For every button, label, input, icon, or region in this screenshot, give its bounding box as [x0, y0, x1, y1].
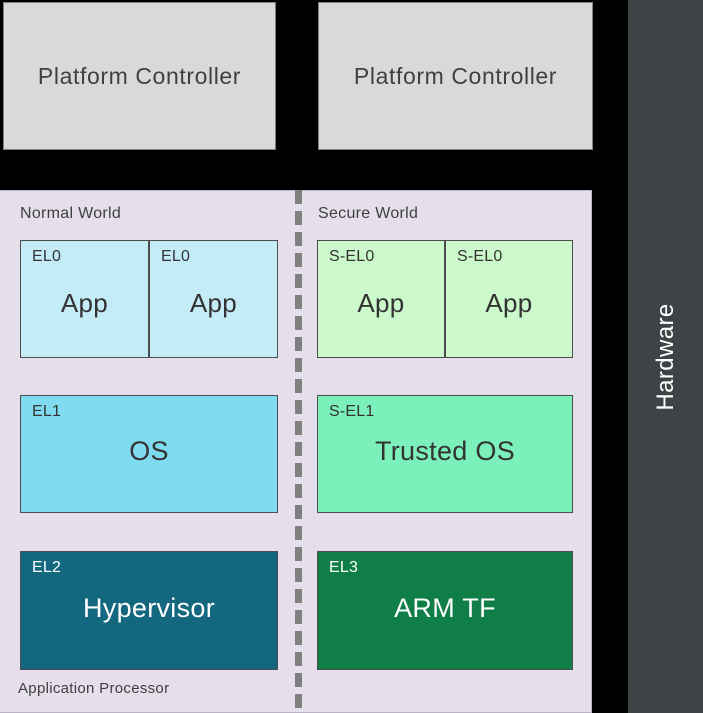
box-s-el0-app-secure-2: S-EL0 App [445, 240, 573, 358]
exception-level-tag: EL0 [161, 248, 190, 266]
platform-controller-label: Platform Controller [354, 63, 557, 90]
box-title: App [446, 288, 572, 319]
platform-controller-label: Platform Controller [38, 63, 241, 90]
world-divider-dashed-line [295, 190, 302, 713]
architecture-diagram: Platform Controller Platform Controller … [0, 0, 703, 713]
box-title: App [318, 288, 444, 319]
box-title: ARM TF [318, 593, 572, 624]
application-processor-label: Application Processor [18, 680, 169, 697]
box-el0-app-normal-2: EL0 App [149, 240, 278, 358]
hardware-label: Hardware [652, 303, 680, 410]
exception-level-tag: S-EL1 [329, 403, 374, 421]
platform-controller-box-right: Platform Controller [318, 2, 593, 150]
box-el1-os: EL1 OS [20, 395, 278, 513]
platform-controller-box-left: Platform Controller [3, 2, 276, 150]
hardware-rail: Hardware [628, 0, 703, 713]
box-title: App [21, 288, 148, 319]
exception-level-tag: EL3 [329, 559, 358, 577]
box-el0-app-normal-1: EL0 App [20, 240, 149, 358]
box-title: Trusted OS [318, 436, 572, 467]
exception-level-tag: S-EL0 [329, 248, 374, 266]
box-s-el1-trusted-os: S-EL1 Trusted OS [317, 395, 573, 513]
exception-level-tag: EL0 [32, 248, 61, 266]
box-s-el0-app-secure-1: S-EL0 App [317, 240, 445, 358]
exception-level-tag: S-EL0 [457, 248, 502, 266]
box-el2-hypervisor: EL2 Hypervisor [20, 551, 278, 670]
exception-level-tag: EL1 [32, 403, 61, 421]
box-title: App [150, 288, 277, 319]
normal-world-label: Normal World [20, 205, 121, 223]
secure-world-label: Secure World [318, 205, 418, 223]
box-title: OS [21, 436, 277, 467]
exception-level-tag: EL2 [32, 559, 61, 577]
box-el3-arm-tf: EL3 ARM TF [317, 551, 573, 670]
box-title: Hypervisor [21, 593, 277, 624]
